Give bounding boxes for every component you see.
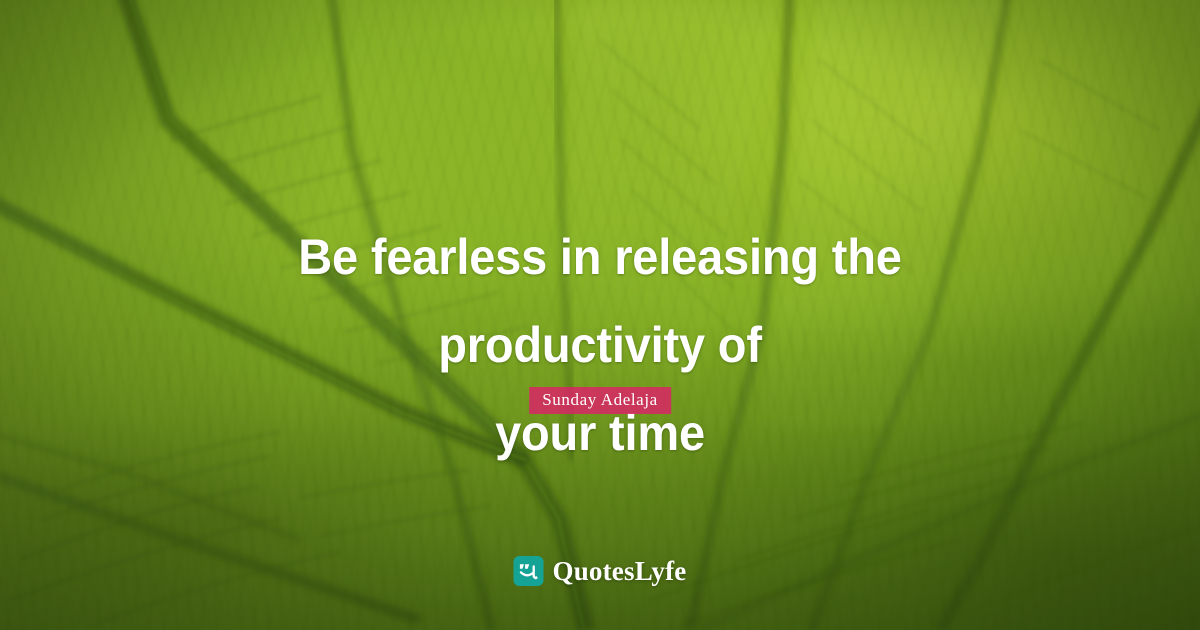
card-content: Be fearless in releasing the productivit…	[0, 0, 1200, 630]
quote-card: Be fearless in releasing the productivit…	[0, 0, 1200, 630]
quote-mark-icon	[514, 556, 544, 586]
quote-block: Be fearless in releasing the productivit…	[0, 213, 1200, 477]
author-badge: Sunday Adelaja	[529, 387, 671, 414]
brand-logo[interactable]: QuotesLyfe	[514, 556, 687, 586]
brand-name: QuotesLyfe	[553, 556, 687, 586]
quote-text: Be fearless in releasing the productivit…	[177, 213, 1023, 477]
